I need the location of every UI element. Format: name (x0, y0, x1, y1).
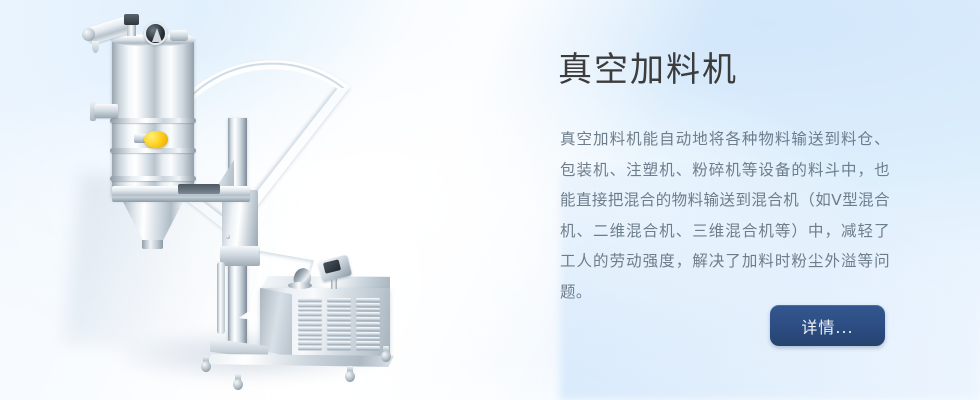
details-button[interactable]: 详情... (770, 305, 885, 346)
banner-content: 真空加料机 真空加料机能自动地将各种物料输送到料仓、包装机、注塑机、粉碎机等设备… (558, 0, 898, 400)
caster-wheel (380, 346, 392, 362)
discharge-outlet (142, 240, 163, 249)
caster-wheel (200, 356, 212, 372)
gauge-stem (127, 25, 136, 36)
hopper-band (110, 118, 196, 123)
tray-opening (178, 184, 220, 194)
product-description: 真空加料机能自动地将各种物料输送到料仓、包装机、注塑机、粉碎机等设备的料斗中，也… (560, 124, 890, 307)
caster-wheel (232, 374, 244, 390)
column-guide-rod (217, 262, 225, 334)
tray-lip (112, 197, 250, 202)
stainless-hopper (112, 38, 194, 196)
product-hero-banner: 真空加料机 真空加料机能自动地将各种物料输送到料仓、包装机、注塑机、粉碎机等设备… (0, 0, 980, 400)
inspection-port-icon (144, 22, 167, 45)
hopper-band (110, 176, 196, 181)
yellow-valve-handle (144, 131, 168, 148)
valve-drain (92, 41, 99, 53)
product-image (82, 0, 402, 400)
page-title: 真空加料机 (558, 48, 738, 92)
inlet-elbow-ring (288, 282, 312, 289)
side-nozzle (94, 104, 118, 118)
caster-wheel (344, 366, 356, 382)
cabinet-louver-vent (294, 296, 384, 352)
hopper-band (110, 148, 196, 153)
valve-cap (82, 28, 95, 41)
gauge-housing (124, 14, 139, 25)
hose-coupling-nut (170, 30, 188, 41)
